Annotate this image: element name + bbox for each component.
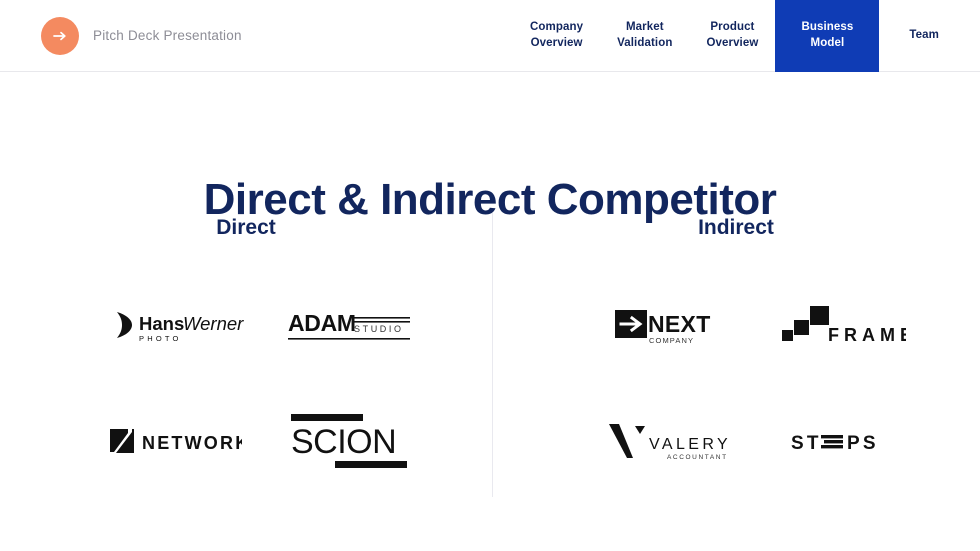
column-heading-indirect: Indirect (492, 216, 980, 240)
logo-adam-studio[interactable]: ADAM STUDIO (255, 296, 445, 356)
svg-text:Werner: Werner (183, 313, 244, 334)
logo-hanswerner-photo[interactable]: Hans Werner PHOTO (85, 296, 275, 356)
svg-text:FRAME: FRAME (828, 325, 906, 345)
logo-network[interactable]: NETWORK (80, 412, 270, 472)
app-header: Pitch Deck Presentation Company Overview… (0, 0, 980, 72)
svg-text:PS: PS (847, 433, 879, 454)
column-divider (492, 213, 493, 497)
nav-item-market-validation[interactable]: Market Validation (600, 0, 689, 72)
svg-text:SCION: SCION (291, 423, 396, 461)
svg-text:COMPANY: COMPANY (649, 336, 694, 345)
arrow-right-circle-icon[interactable] (41, 17, 79, 55)
svg-text:ADAM: ADAM (288, 310, 356, 336)
svg-text:VALERY: VALERY (649, 436, 731, 453)
slide-content: Direct & Indirect Competitor Direct Indi… (0, 72, 980, 551)
nav-item-team[interactable]: Team (879, 0, 980, 72)
logo-scion[interactable]: SCION (255, 410, 445, 474)
svg-text:NETWORK: NETWORK (142, 433, 242, 453)
logo-valery-accountant[interactable]: VALERY ACCOUNTANT (572, 410, 767, 474)
svg-text:STUDIO: STUDIO (354, 324, 404, 334)
svg-text:PHOTO: PHOTO (139, 334, 182, 343)
column-heading-direct: Direct (0, 216, 492, 240)
nav-item-company-overview[interactable]: Company Overview (513, 0, 600, 72)
svg-text:Hans: Hans (139, 313, 184, 334)
nav-item-business-model[interactable]: Business Model (775, 0, 879, 72)
brand-title: Pitch Deck Presentation (93, 28, 242, 43)
svg-text:NEXT: NEXT (648, 311, 711, 337)
logo-next-company[interactable]: NEXT COMPANY (580, 296, 770, 356)
nav-item-product-overview[interactable]: Product Overview (689, 0, 775, 72)
brand: Pitch Deck Presentation (0, 17, 242, 55)
svg-text:ACCOUNTANT: ACCOUNTANT (667, 454, 728, 461)
logo-steps[interactable]: ST PS (748, 412, 938, 472)
svg-text:ST: ST (791, 433, 822, 454)
logo-frame[interactable]: FRAME (745, 294, 940, 356)
